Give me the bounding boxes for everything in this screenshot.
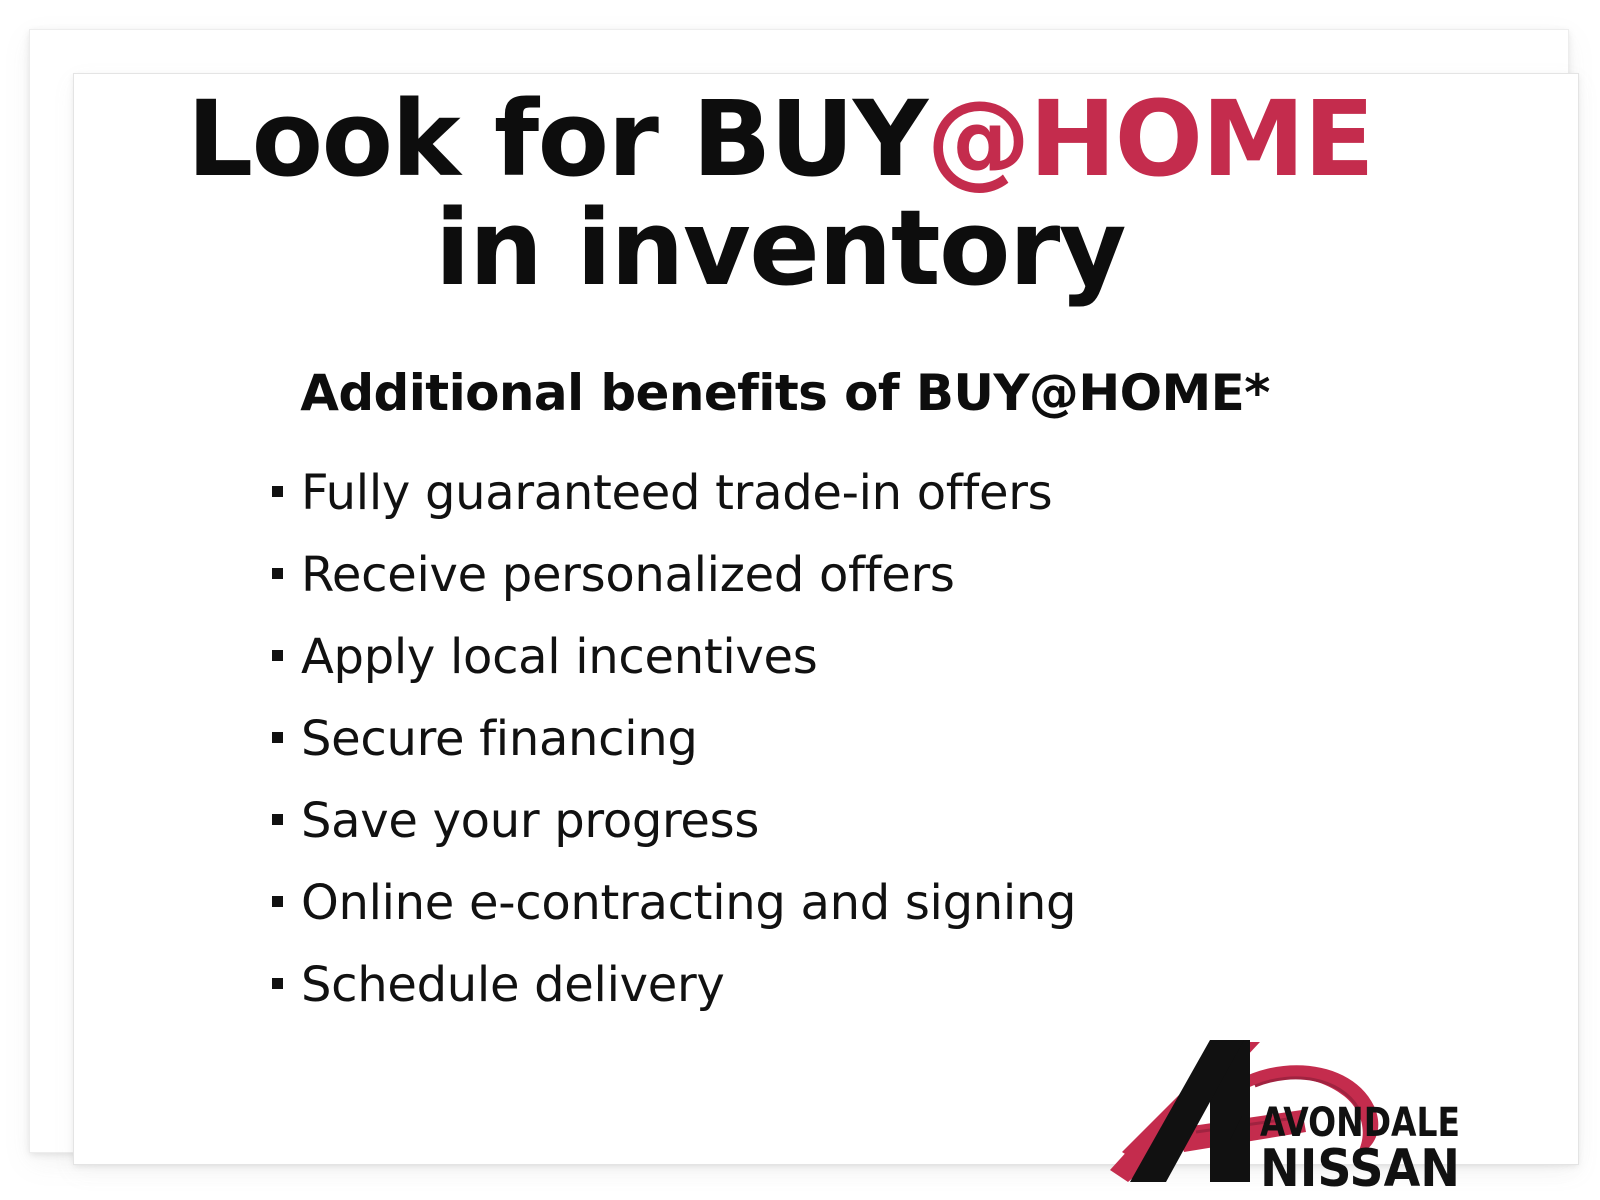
square-bullet-icon	[272, 896, 283, 907]
list-item-label: Online e-contracting and signing	[301, 862, 1076, 944]
list-item-label: Schedule delivery	[301, 944, 724, 1026]
benefits-list: Fully guaranteed trade-in offers Receive…	[272, 452, 1452, 1026]
subheading: Additional benefits of BUY@HOME*	[0, 364, 1570, 422]
slide-content: Look for BUY@HOME in inventory Additiona…	[0, 0, 1600, 1200]
avondale-nissan-logo: AVONDALE NISSAN	[1092, 1020, 1464, 1195]
list-item: Save your progress	[272, 780, 1452, 862]
list-item: Secure financing	[272, 698, 1452, 780]
list-item: Online e-contracting and signing	[272, 862, 1452, 944]
page-title-line2: in inventory	[0, 195, 1560, 301]
list-item-label: Fully guaranteed trade-in offers	[301, 452, 1052, 534]
list-item-label: Save your progress	[301, 780, 759, 862]
list-item: Receive personalized offers	[272, 534, 1452, 616]
list-item-label: Apply local incentives	[301, 616, 817, 698]
square-bullet-icon	[272, 814, 283, 825]
square-bullet-icon	[272, 650, 283, 661]
square-bullet-icon	[272, 568, 283, 579]
list-item: Fully guaranteed trade-in offers	[272, 452, 1452, 534]
page-title: Look for BUY@HOME	[0, 86, 1560, 192]
list-item: Apply local incentives	[272, 616, 1452, 698]
slide-surface: Look for BUY@HOME in inventory Additiona…	[0, 0, 1600, 1200]
headline-brand-athome: @HOME	[927, 78, 1373, 200]
logo-text-nissan: NISSAN	[1260, 1139, 1460, 1195]
square-bullet-icon	[272, 486, 283, 497]
headline-brand-buy: BUY	[692, 78, 927, 200]
square-bullet-icon	[272, 732, 283, 743]
list-item-label: Secure financing	[301, 698, 698, 780]
list-item-label: Receive personalized offers	[301, 534, 955, 616]
letter-a-mark	[1130, 1040, 1250, 1182]
square-bullet-icon	[272, 978, 283, 989]
list-item: Schedule delivery	[272, 944, 1452, 1026]
headline-prefix: Look for	[187, 78, 692, 200]
